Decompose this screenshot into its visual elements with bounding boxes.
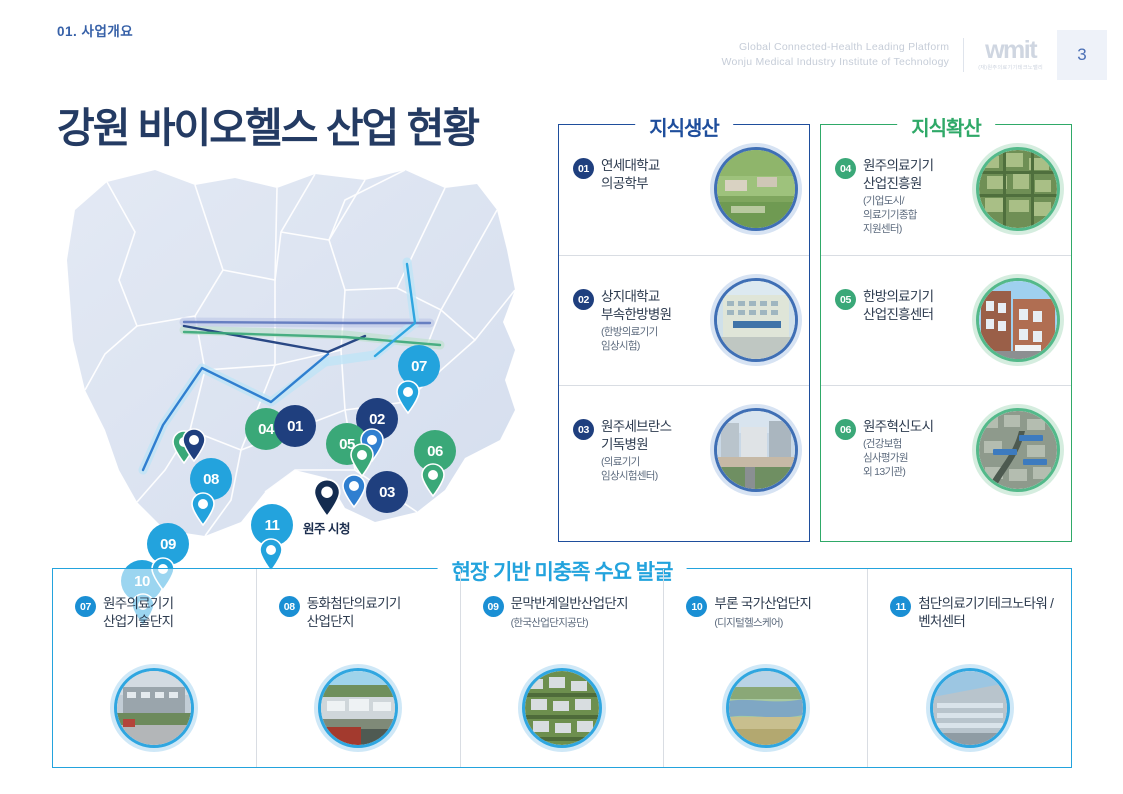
item-number-badge: 10 [686,596,707,617]
slide-page: 01. 사업개요 Global Connected-Health Leading… [0,0,1123,794]
item-number-badge: 03 [573,419,594,440]
item-name-line-2: 산업진흥센터 [863,306,979,324]
item-photo-sangji-oriental-hospital [717,281,795,359]
item-name-line-2: 의공학부 [601,175,717,193]
map-pin-03[interactable] [341,474,367,508]
item-name-line-1: 연세대학교 [601,157,717,175]
header-tagline: Global Connected-Health Leading Platform… [722,40,950,70]
item-name-line-1: 동화첨단의료기기 [307,595,401,613]
list-item-10[interactable]: 10 부론 국가산업단지 (디지털헬스케어) [663,569,867,767]
page-number-badge: 3 [1057,30,1107,80]
map-svg [45,140,545,560]
map-pin-city-hall[interactable] [312,478,342,518]
map-pin-11[interactable] [258,538,284,572]
item-name-line-2: 부속한방병원 [601,306,717,324]
item-photo-oriental-medical-device-center [979,281,1057,359]
map-pin-05[interactable] [349,443,375,477]
item-number-badge: 01 [573,158,594,179]
list-item-03[interactable]: 03 원주세브란스 기독병원 (의료기기 임상시험센터) [559,385,809,515]
map-marker-01[interactable]: 01 [274,405,316,447]
list-item-04[interactable]: 04 원주의료기기 산업진흥원 (기업도시/ 의료기기종합 지원센터) [821,125,1071,255]
item-number-badge: 11 [890,596,911,617]
item-photo-advanced-medical-device-techno-tower [933,671,1007,745]
item-subtext: (기업도시/ 의료기기종합 지원센터) [863,195,979,236]
item-text: 첨단의료기기테크노타워 / 벤처센터 [918,595,1053,631]
section-label: 01. 사업개요 [57,20,133,40]
item-number-badge: 02 [573,289,594,310]
item-name-line-1: 첨단의료기기테크노타워 / [918,595,1053,613]
item-photo-wonju-medical-device-promotion [979,150,1057,228]
city-hall-label: 원주 시청 [303,518,350,537]
wmit-logo-subtext: (재)원주의료기기테크노밸리 [978,63,1043,71]
list-item-01[interactable]: 01 연세대학교 의공학부 [559,125,809,255]
wmit-logo-wordmark: wmit [985,39,1036,63]
item-photo-munmak-bangye-industrial-complex [525,671,599,745]
item-name-line-1: 원주세브란스 [601,418,717,436]
item-name-line-1: 원주의료기기 [103,595,173,613]
item-photo-wonju-medical-device-techno-park [117,671,191,745]
unmet-demand-row: 07 원주의료기기 산업기술단지 08 동화첨단의료기기 산업단지 [53,569,1071,767]
item-header: 10 부론 국가산업단지 (디지털헬스케어) [686,595,867,630]
item-text: 동화첨단의료기기 산업단지 [307,595,401,631]
item-name-line-1: 부론 국가산업단지 [714,595,811,613]
item-text: 상지대학교 부속한방병원 (한방의료기기 임상시험) [601,256,717,354]
item-header: 08 동화첨단의료기기 산업단지 [279,595,460,631]
item-text: 문막반계일반산업단지 (한국산업단지공단) [511,595,628,630]
item-name-line-2: 산업단지 [307,613,401,631]
item-number-badge: 08 [279,596,300,617]
item-photo-buron-national-industrial-complex [729,671,803,745]
item-name-line-1: 원주의료기기 [863,157,979,175]
item-text: 한방의료기기 산업진흥센터 [863,256,979,324]
item-subtext: (디지털헬스케어) [714,615,811,630]
map-pin-01[interactable] [181,428,207,462]
item-text: 원주혁신도시 (건강보험 심사평가원 외 13기관) [863,386,979,479]
list-item-08[interactable]: 08 동화첨단의료기기 산업단지 [256,569,460,767]
tagline-line-1: Global Connected-Health Leading Platform [722,40,950,55]
map-marker-03[interactable]: 03 [366,471,408,513]
item-name-line-1: 상지대학교 [601,288,717,306]
item-subtext: (한국산업단지공단) [511,615,628,630]
list-item-11[interactable]: 11 첨단의료기기테크노타워 / 벤처센터 [867,569,1071,767]
map-pin-07[interactable] [395,380,421,414]
item-name-line-2: 산업기술단지 [103,613,173,631]
item-name-line-2: 산업진흥원 [863,175,979,193]
item-name-line-1: 한방의료기기 [863,288,979,306]
item-text: 원주의료기기 산업기술단지 [103,595,173,631]
map-pin-06[interactable] [420,463,446,497]
list-item-06[interactable]: 06 원주혁신도시 (건강보험 심사평가원 외 13기관) [821,385,1071,515]
item-photo-wonju-severance-hospital [717,411,795,489]
panel-knowledge-production: 지식생산 01 연세대학교 의공학부 02 상지대학교 부속한방병원 (한방의료… [558,124,810,542]
wmit-logo: wmit (재)원주의료기기테크노밸리 [978,39,1043,72]
tagline-line-2: Wonju Medical Industry Institute of Tech… [722,55,950,70]
list-item-07[interactable]: 07 원주의료기기 산업기술단지 [53,569,256,767]
list-item-02[interactable]: 02 상지대학교 부속한방병원 (한방의료기기 임상시험) [559,255,809,385]
item-subtext: (의료기기 임상시험센터) [601,456,717,483]
header-divider [963,38,964,72]
item-number-badge: 05 [835,289,856,310]
list-item-05[interactable]: 05 한방의료기기 산업진흥센터 [821,255,1071,385]
item-number-badge: 06 [835,419,856,440]
item-photo-donghwa-industrial-complex [321,671,395,745]
item-header: 07 원주의료기기 산업기술단지 [75,595,256,631]
item-subtext: (건강보험 심사평가원 외 13기관) [863,438,979,479]
map-pin-08[interactable] [190,492,216,526]
item-header: 09 문막반계일반산업단지 (한국산업단지공단) [483,595,664,630]
list-item-09[interactable]: 09 문막반계일반산업단지 (한국산업단지공단) [460,569,664,767]
item-photo-yonsei-biomedical [717,150,795,228]
item-name-line-1: 원주혁신도시 [863,418,979,436]
gangwon-map: 04 01 02 05 07 06 03 08 11 09 10 [45,140,545,560]
item-number-badge: 07 [75,596,96,617]
item-name-line-2: 기독병원 [601,436,717,454]
item-name-line-1: 문막반계일반산업단지 [511,595,628,613]
map-province-shape [67,170,515,536]
header-right: Global Connected-Health Leading Platform… [722,30,1107,80]
item-number-badge: 04 [835,158,856,179]
item-number-badge: 09 [483,596,504,617]
panel-unmet-demand: 현장 기반 미충족 수요 발굴 07 원주의료기기 산업기술단지 08 [52,568,1072,768]
item-subtext: (한방의료기기 임상시험) [601,326,717,353]
item-text: 원주의료기기 산업진흥원 (기업도시/ 의료기기종합 지원센터) [863,125,979,236]
item-photo-wonju-innovation-city [979,411,1057,489]
item-header: 11 첨단의료기기테크노타워 / 벤처센터 [890,595,1071,631]
item-text: 연세대학교 의공학부 [601,125,717,193]
panel-knowledge-diffusion: 지식확산 04 원주의료기기 산업진흥원 (기업도시/ 의료기기종합 지원센터)… [820,124,1072,542]
item-name-line-2: 벤처센터 [918,613,1053,631]
item-text: 부론 국가산업단지 (디지털헬스케어) [714,595,811,630]
item-text: 원주세브란스 기독병원 (의료기기 임상시험센터) [601,386,717,484]
